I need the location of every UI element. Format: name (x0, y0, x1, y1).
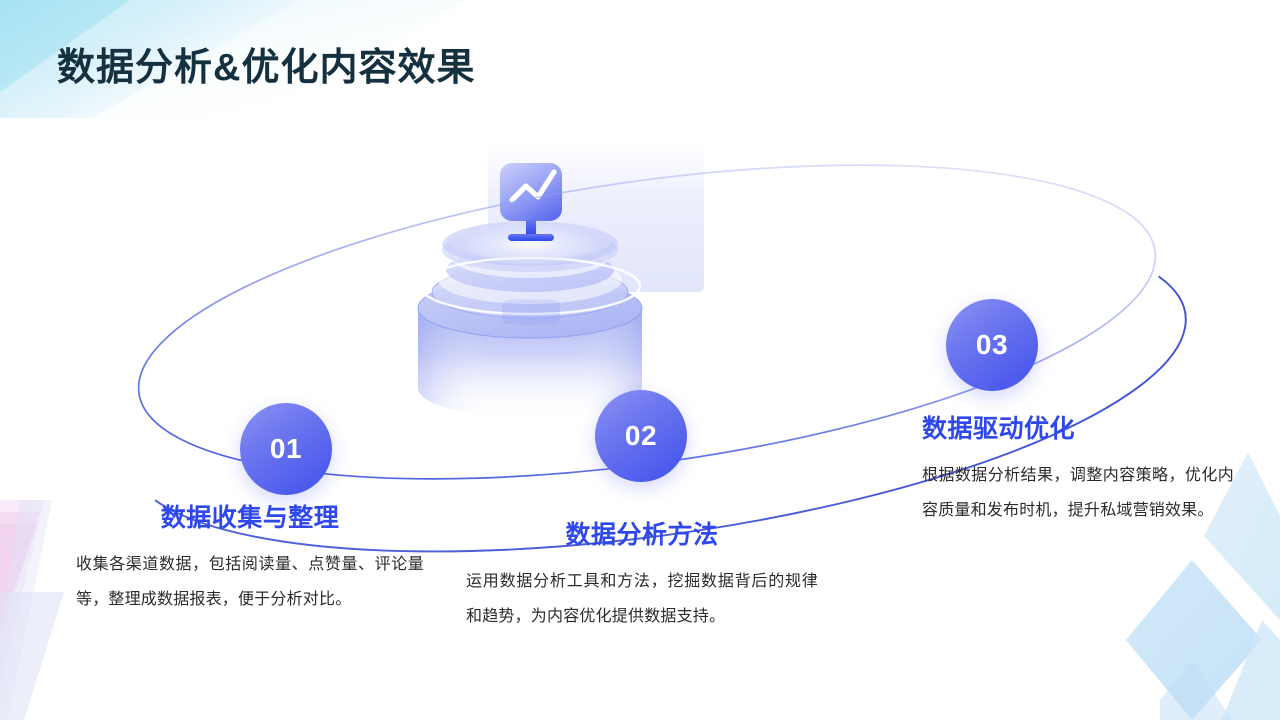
slide-canvas: 数据分析&优化内容效果 (0, 0, 1280, 720)
step-heading-03: 数据驱动优化 (922, 414, 1234, 445)
step-circle-02[interactable]: 02 (595, 390, 687, 482)
step-number-01: 01 (270, 435, 302, 463)
step-body-03: 根据数据分析结果，调整内容策略，优化内容质量和发布时机，提升私域营销效果。 (922, 459, 1234, 528)
step-block-03: 数据驱动优化 根据数据分析结果，调整内容策略，优化内容质量和发布时机，提升私域营… (922, 414, 1234, 528)
step-body-01: 收集各渠道数据，包括阅读量、点赞量、评论量等，整理成数据报表，便于分析对比。 (76, 548, 424, 617)
step-block-02: 数据分析方法 运用数据分析工具和方法，挖掘数据背后的规律和趋势，为内容优化提供数… (466, 520, 818, 634)
step-number-02: 02 (625, 422, 657, 450)
step-heading-01: 数据收集与整理 (76, 503, 424, 534)
step-body-02: 运用数据分析工具和方法，挖掘数据背后的规律和趋势，为内容优化提供数据支持。 (466, 565, 818, 634)
step-circle-03[interactable]: 03 (946, 299, 1038, 391)
step-block-01: 数据收集与整理 收集各渠道数据，包括阅读量、点赞量、评论量等，整理成数据报表，便… (76, 503, 424, 617)
step-circle-01[interactable]: 01 (240, 403, 332, 495)
step-number-03: 03 (976, 331, 1008, 359)
step-heading-02: 数据分析方法 (466, 520, 818, 551)
